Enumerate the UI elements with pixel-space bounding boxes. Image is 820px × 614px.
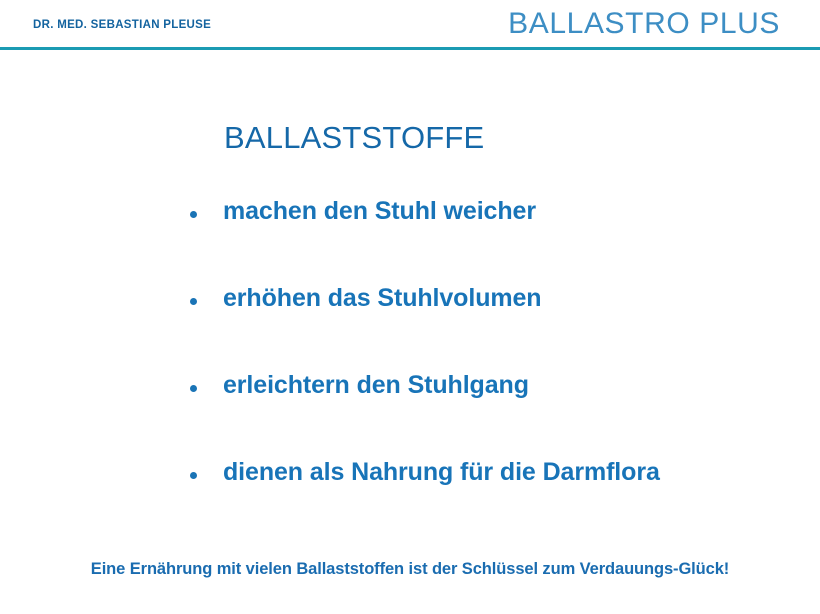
bullet-label: erleichtern den Stuhlgang [223, 371, 529, 400]
slide-canvas: DR. MED. SEBASTIAN PLEUSE BALLASTRO PLUS… [0, 0, 820, 614]
footer-tagline: Eine Ernährung mit vielen Ballaststoffen… [91, 560, 729, 579]
slide-header: DR. MED. SEBASTIAN PLEUSE BALLASTRO PLUS [0, 0, 820, 49]
list-item: machen den Stuhl weicher [0, 197, 820, 284]
list-item: erleichtern den Stuhlgang [0, 371, 820, 458]
bullet-label: erhöhen das Stuhlvolumen [223, 284, 541, 313]
practice-name: DR. MED. SEBASTIAN PLEUSE [33, 19, 211, 31]
bullet-list: machen den Stuhl weicher erhöhen das Stu… [0, 197, 820, 545]
bullet-label: dienen als Nahrung für die Darmflora [223, 458, 660, 487]
page-title: BALLASTSTOFFE [224, 120, 484, 156]
slide-content: BALLASTSTOFFE machen den Stuhl weicher e… [0, 49, 820, 549]
slide-footer: Eine Ernährung mit vielen Ballaststoffen… [0, 560, 820, 579]
list-item: erhöhen das Stuhlvolumen [0, 284, 820, 371]
bullet-label: machen den Stuhl weicher [223, 197, 536, 226]
bullet-dot-icon [190, 298, 197, 305]
list-item: dienen als Nahrung für die Darmflora [0, 458, 820, 545]
bullet-dot-icon [190, 472, 197, 479]
brand-title: BALLASTRO PLUS [508, 7, 780, 41]
bullet-dot-icon [190, 211, 197, 218]
bullet-dot-icon [190, 385, 197, 392]
